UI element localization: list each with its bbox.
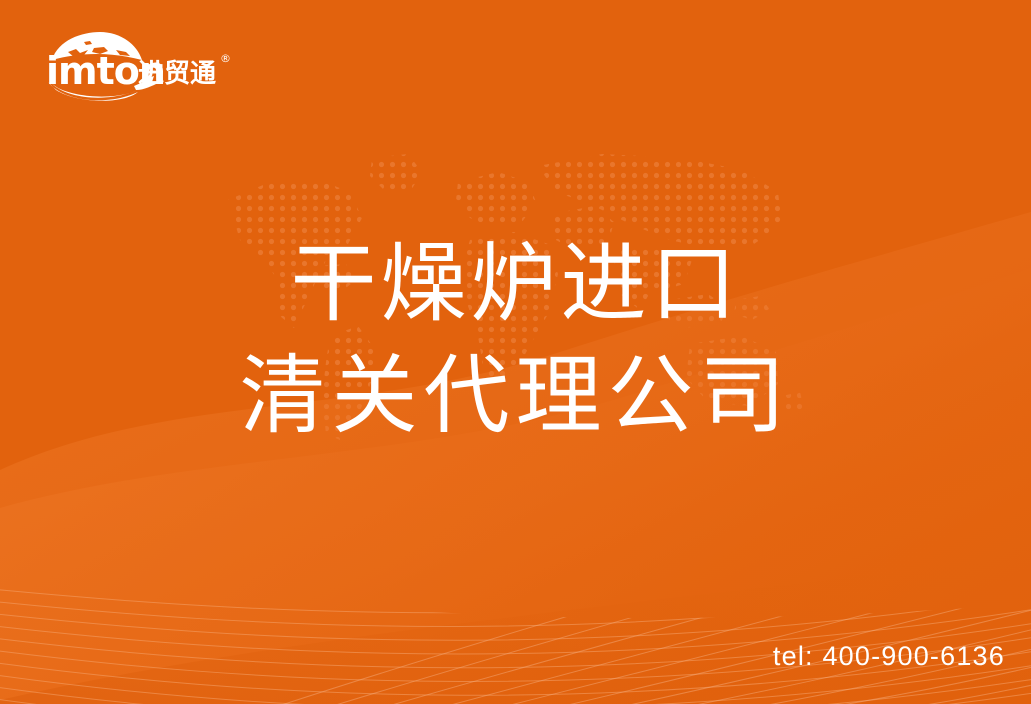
headline-line-2: 清关代理公司 xyxy=(0,340,1031,452)
promo-banner: imton 进贸通 ® 干燥炉进口 清关代理公司 tel: 400-900-61… xyxy=(0,0,1031,704)
page-title: 干燥炉进口 清关代理公司 xyxy=(0,228,1031,452)
imton-logo[interactable]: imton 进贸通 ® xyxy=(38,28,238,104)
registered-trademark-icon: ® xyxy=(220,52,231,65)
headline-line-1: 干燥炉进口 xyxy=(0,228,1031,340)
logo-chinese-name: 进贸通 xyxy=(138,59,216,89)
contact-phone[interactable]: tel: 400-900-6136 xyxy=(773,641,1005,672)
